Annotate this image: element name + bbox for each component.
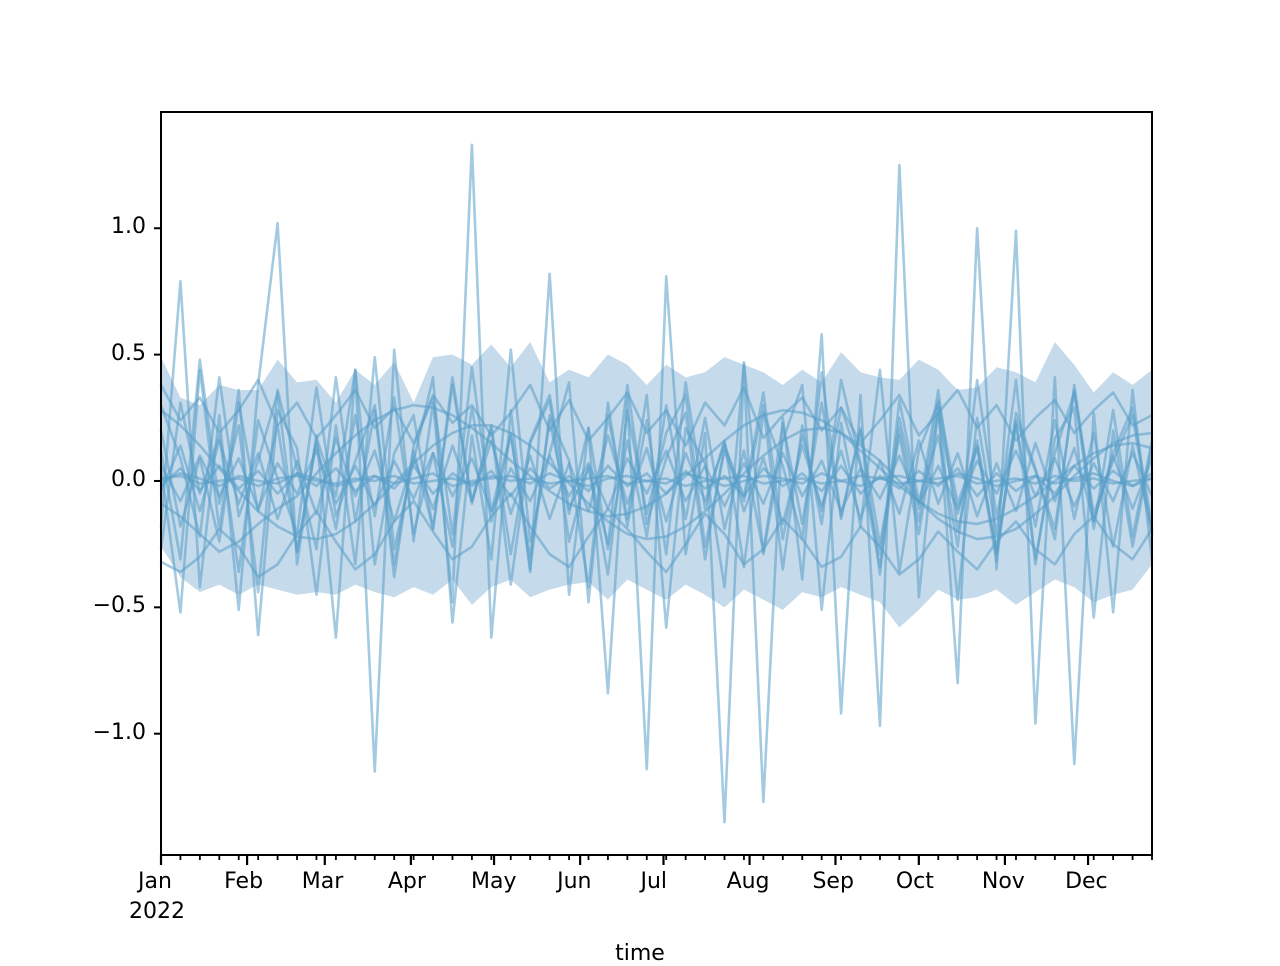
x-axis-year-label: 2022	[129, 901, 185, 923]
plot-canvas	[0, 0, 1280, 960]
x-tick-label: Oct	[896, 871, 934, 893]
x-tick-label: Feb	[224, 871, 263, 893]
y-tick-label: 0.5	[44, 343, 146, 365]
x-tick-label: Dec	[1065, 871, 1108, 893]
y-tick-label: 0.0	[44, 469, 146, 491]
x-tick-label: Jan	[138, 871, 172, 893]
x-tick-label: Nov	[982, 871, 1025, 893]
matplotlib-figure: 1.00.50.0−0.5−1.0 JanFebMarAprMayJunJulA…	[0, 0, 1280, 960]
y-tick-label: −1.0	[44, 722, 146, 744]
x-tick-label: Mar	[302, 871, 344, 893]
x-tick-label: Jul	[640, 871, 667, 893]
x-axis-label: time	[0, 943, 1280, 965]
x-tick-label: Apr	[388, 871, 426, 893]
series-lines	[161, 145, 1152, 822]
y-tick-label: 1.0	[44, 216, 146, 238]
x-tick-label: Jun	[557, 871, 591, 893]
x-tick-label: Sep	[812, 871, 853, 893]
x-tick-label: May	[471, 871, 516, 893]
y-tick-label: −0.5	[44, 595, 146, 617]
x-tick-label: Aug	[727, 871, 770, 893]
